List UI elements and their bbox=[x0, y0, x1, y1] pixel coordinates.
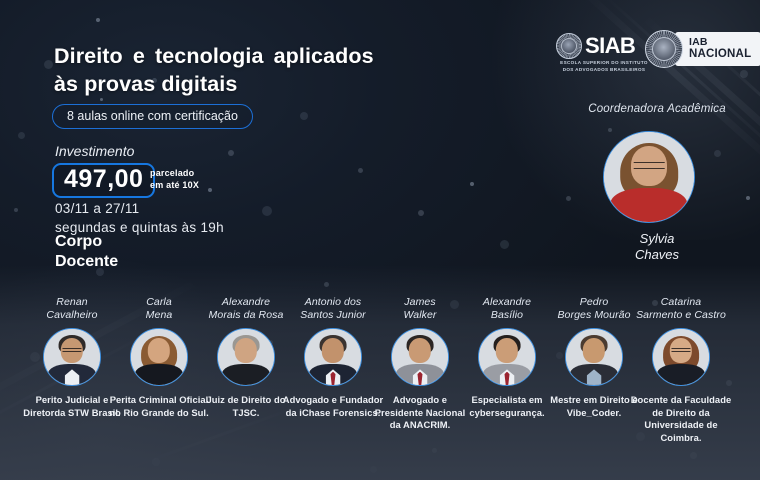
iab-seal-icon bbox=[645, 30, 683, 68]
faculty-heading-line2: Docente bbox=[55, 252, 118, 272]
faculty-portrait bbox=[131, 329, 187, 385]
esiab-seal-icon bbox=[556, 33, 582, 59]
coordinator-avatar bbox=[603, 131, 695, 223]
iab-nacional-card: IAB NACIONAL bbox=[675, 32, 760, 66]
faculty-member-catarina: Catarina Sarmento e Castro Docente da Fa… bbox=[629, 296, 733, 444]
iab-line2: NACIONAL bbox=[689, 48, 751, 60]
faculty-section-heading: Corpo Docente bbox=[55, 232, 118, 271]
faculty-avatar bbox=[478, 328, 536, 386]
faculty-portrait bbox=[566, 329, 622, 385]
faculty-avatar bbox=[565, 328, 623, 386]
installment-note: parcelado em até 10X bbox=[150, 168, 199, 192]
faculty-name: Catarina Sarmento e Castro bbox=[629, 296, 733, 322]
iab-nacional-logo: IAB NACIONAL bbox=[645, 30, 760, 68]
faculty-list: Renan Cavalheiro Perito Judicial e Diret… bbox=[0, 296, 760, 480]
faculty-avatar bbox=[304, 328, 362, 386]
esiab-logo: SIAB bbox=[556, 33, 635, 59]
faculty-avatar bbox=[391, 328, 449, 386]
esiab-wordmark: SIAB bbox=[585, 35, 635, 57]
coordinator-name-line1: Sylvia bbox=[577, 231, 737, 247]
coordinator-portrait bbox=[604, 132, 694, 222]
page-title-line1: Direito e tecnologia aplicados bbox=[54, 43, 414, 71]
investment-label: Investimento bbox=[55, 143, 134, 159]
faculty-heading-line1: Corpo bbox=[55, 232, 118, 252]
coordinator-label: Coordenadora Acadêmica bbox=[577, 103, 737, 115]
schedule-dates: 03/11 a 27/11 bbox=[55, 200, 224, 219]
price-amount: 497,00 bbox=[64, 165, 143, 193]
faculty-portrait bbox=[392, 329, 448, 385]
coordinator-name: Sylvia Chaves bbox=[577, 231, 737, 264]
course-promo-poster: Direito e tecnologia aplicados às provas… bbox=[0, 0, 760, 480]
faculty-name-line2: Sarmento e Castro bbox=[629, 309, 733, 322]
faculty-portrait bbox=[218, 329, 274, 385]
esiab-subtitle: ESCOLA SUPERIOR DO INSTITUTO DOS ADVOGAD… bbox=[556, 60, 652, 74]
faculty-avatar bbox=[43, 328, 101, 386]
price-box: 497,00 bbox=[52, 163, 155, 198]
page-title-line2: às provas digitais bbox=[54, 71, 414, 99]
coordinator-name-line2: Chaves bbox=[577, 247, 737, 263]
iab-line1: IAB bbox=[689, 37, 751, 48]
page-title: Direito e tecnologia aplicados às provas… bbox=[54, 43, 414, 98]
faculty-portrait bbox=[653, 329, 709, 385]
faculty-portrait bbox=[305, 329, 361, 385]
faculty-name-line1: Catarina bbox=[629, 296, 733, 309]
faculty-role: Docente da Faculdade de Direito da Unive… bbox=[629, 394, 733, 444]
installment-line1: parcelado bbox=[150, 168, 199, 180]
installment-line2: em até 10X bbox=[150, 180, 199, 192]
course-format-badge: 8 aulas online com certificação bbox=[52, 104, 253, 129]
faculty-portrait bbox=[44, 329, 100, 385]
faculty-avatar bbox=[217, 328, 275, 386]
faculty-avatar bbox=[652, 328, 710, 386]
faculty-avatar bbox=[130, 328, 188, 386]
faculty-portrait bbox=[479, 329, 535, 385]
